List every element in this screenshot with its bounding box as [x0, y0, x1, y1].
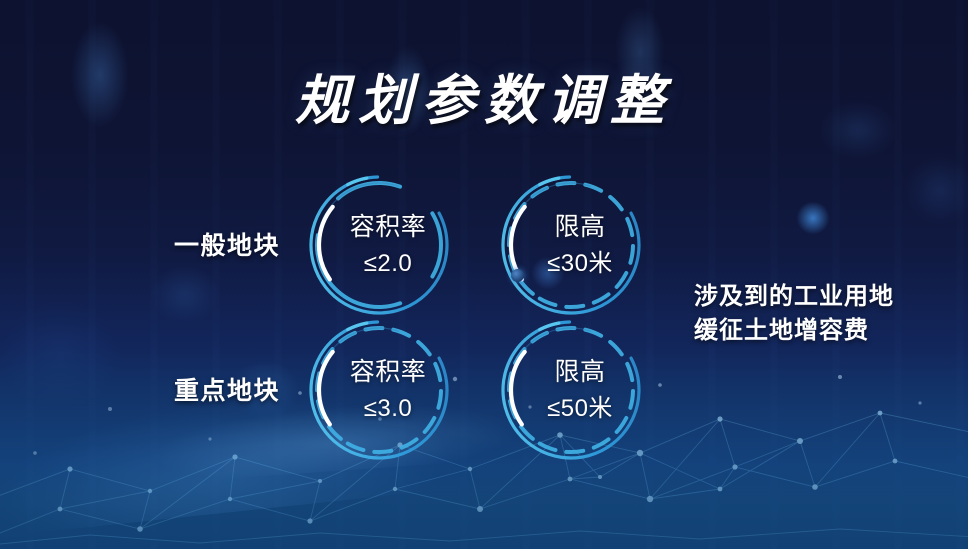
side-note-line-1: 涉及到的工业用地: [694, 280, 894, 314]
ring-accent-dot: [511, 269, 524, 282]
page-title: 规划参数调整: [0, 56, 968, 135]
side-note: 涉及到的工业用地 缓征土地增容费: [694, 280, 894, 348]
slide-canvas: 规划参数调整 一般地块 重点地块 容积率 ≤2: [0, 0, 968, 549]
row-label-key: 重点地块: [110, 371, 280, 407]
row-label-general: 一般地块: [110, 226, 280, 262]
metric-ring-far-general[interactable]: 容积率 ≤2.0: [305, 171, 453, 319]
metric-ring-far-key[interactable]: 容积率 ≤3.0: [305, 316, 453, 464]
side-note-line-2: 缓征土地增容费: [694, 314, 894, 348]
metric-ring-height-general[interactable]: 限高 ≤30米: [497, 171, 645, 319]
metric-ring-height-key[interactable]: 限高 ≤50米: [497, 316, 645, 464]
